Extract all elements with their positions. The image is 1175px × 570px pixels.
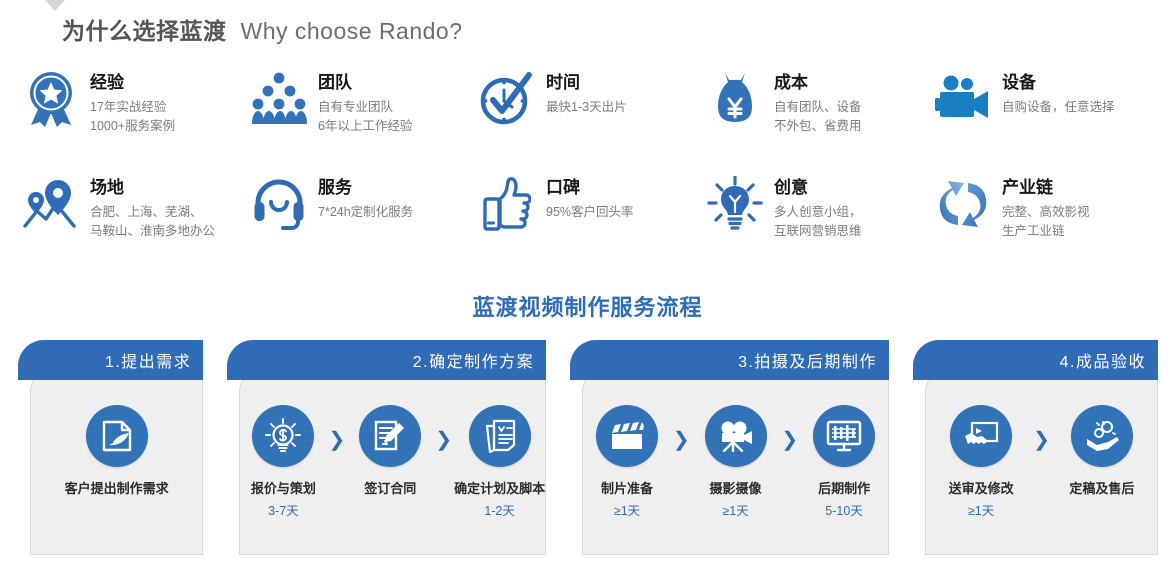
process-card-4-header: 4.成品验收 [913, 340, 1158, 380]
chevron-right-icon: ❯ [671, 427, 692, 452]
process-card-2-steps: 报价与策划 3-7天 ❯ 签订合同 [240, 405, 545, 546]
feature-text: 设备 自购设备，任意选择 [1002, 68, 1115, 117]
feature-title: 创意 [774, 177, 862, 199]
process-step-label: 签订合同 [364, 478, 416, 497]
process-card-1[interactable]: 1.提出需求 客户提出制作需求 [18, 340, 203, 555]
page-title-cn: 为什么选择蓝渡 [62, 18, 227, 44]
feature-desc: 自购设备，任意选择 [1002, 98, 1115, 117]
process-step-label: 送审及修改 [949, 478, 1014, 497]
process-step[interactable]: 制片准备 ≥1天 [583, 405, 671, 519]
feature-title: 成本 [774, 72, 862, 94]
feature-desc: 多人创意小组， 互联网营销思维 [774, 203, 862, 242]
process-step-days: ≥1天 [968, 500, 994, 519]
feature-desc: 完整、高效影视 生产工业链 [1002, 203, 1090, 242]
feature-item-team: 团队 自有专业团队 6年以上工作经验 [250, 68, 478, 173]
movie-camera-icon [705, 405, 767, 467]
chevron-right-icon: ❯ [779, 427, 800, 452]
feature-desc: 自有团队、设备 不外包、省费用 [774, 98, 862, 137]
chevron-right-icon: ❯ [1031, 427, 1052, 452]
feature-text: 经验 17年实战经验 1000+服务案例 [90, 68, 175, 137]
map-location-pin-icon [22, 175, 80, 233]
process-card-2-header: 2.确定制作方案 [227, 340, 546, 380]
feature-title: 时间 [546, 72, 627, 94]
feature-desc: 最快1-3天出片 [546, 98, 627, 117]
process-card-3[interactable]: 3.拍摄及后期制作 制片准备 [570, 340, 889, 555]
process-card-4[interactable]: 4.成品验收 送审及修改 ≥1天 ❯ [913, 340, 1158, 555]
process-card-1-header: 1.提出需求 [18, 340, 203, 380]
feature-item-venue: 场地 合肥、上海、芜湖、 马鞍山、淮南多地办公 [22, 173, 250, 278]
feature-text: 口碑 95%客户回头率 [546, 173, 634, 222]
contract-sign-icon [359, 405, 421, 467]
chevron-right-icon: ❯ [326, 427, 347, 452]
process-step[interactable]: 定稿及售后 [1052, 405, 1152, 500]
process-card-3-body: 制片准备 ≥1天 ❯ [582, 370, 889, 555]
process-card-1-steps: 客户提出制作需求 [31, 405, 202, 546]
chevron-right-icon: ❯ [433, 427, 454, 452]
feature-item-service: 服务 7*24h定制化服务 [250, 173, 478, 278]
handshake-screen-icon [950, 405, 1012, 467]
feature-desc: 自有专业团队 6年以上工作经验 [318, 98, 412, 137]
document-pen-icon [86, 405, 148, 467]
lightbulb-idea-icon [706, 175, 764, 233]
feature-item-equipment: 设备 自购设备，任意选择 [934, 68, 1162, 173]
feature-desc: 7*24h定制化服务 [318, 203, 413, 222]
feature-title: 设备 [1002, 72, 1115, 94]
thumbs-up-icon [478, 175, 536, 233]
process-card-4-steps: 送审及修改 ≥1天 ❯ 定稿及售后 [926, 405, 1157, 546]
feature-text: 成本 自有团队、设备 不外包、省费用 [774, 68, 862, 137]
award-ribbon-icon [22, 70, 80, 128]
feature-desc: 合肥、上海、芜湖、 马鞍山、淮南多地办公 [90, 203, 215, 242]
process-step[interactable]: 摄影摄像 ≥1天 [692, 405, 780, 519]
process-step-label: 定稿及售后 [1069, 478, 1134, 497]
process-step-label: 客户提出制作需求 [65, 478, 169, 497]
page-title-en: Why choose Rando? [241, 18, 463, 44]
process-card-1-body: 客户提出制作需求 [30, 370, 203, 555]
feature-desc: 17年实战经验 1000+服务案例 [90, 98, 175, 137]
feature-title: 口碑 [546, 177, 634, 199]
team-people-icon [250, 70, 308, 128]
process-step-label: 摄影摄像 [710, 478, 762, 497]
process-step[interactable]: 客户提出制作需求 [42, 405, 192, 500]
feature-title: 团队 [318, 72, 412, 94]
process-step[interactable]: 确定计划及脚本 1-2天 [454, 405, 545, 519]
money-bag-yen-icon [706, 70, 764, 128]
feature-item-industry-chain: 产业链 完整、高效影视 生产工业链 [934, 173, 1162, 278]
headset-support-icon [250, 175, 308, 233]
features-grid: 经验 17年实战经验 1000+服务案例 [22, 68, 1162, 278]
feature-item-time: 时间 最快1-3天出片 [478, 68, 706, 173]
process-step[interactable]: 送审及修改 ≥1天 [931, 405, 1031, 519]
feature-text: 场地 合肥、上海、芜湖、 马鞍山、淮南多地办公 [90, 173, 215, 242]
notch-triangle-icon [45, 0, 65, 11]
feature-item-reputation: 口碑 95%客户回头率 [478, 173, 706, 278]
monitor-editing-icon [813, 405, 875, 467]
feature-title: 服务 [318, 177, 413, 199]
lightbulb-dollar-icon [252, 405, 314, 467]
process-card-2-body: 报价与策划 3-7天 ❯ 签订合同 [239, 370, 546, 555]
feature-text: 产业链 完整、高效影视 生产工业链 [1002, 173, 1090, 242]
process-step-days: ≥1天 [614, 500, 640, 519]
feature-title: 经验 [90, 72, 175, 94]
process-step[interactable]: 签订合同 [347, 405, 433, 500]
feature-item-cost: 成本 自有团队、设备 不外包、省费用 [706, 68, 934, 173]
clapperboard-icon [596, 405, 658, 467]
feature-text: 时间 最快1-3天出片 [546, 68, 627, 117]
process-cards: 1.提出需求 客户提出制作需求 [18, 340, 1158, 555]
process-step[interactable]: 报价与策划 3-7天 [240, 405, 326, 519]
process-card-4-body: 送审及修改 ≥1天 ❯ 定稿及售后 [925, 370, 1158, 555]
process-step-label: 后期制作 [818, 478, 870, 497]
recycle-arrows-icon [934, 175, 992, 233]
feature-text: 服务 7*24h定制化服务 [318, 173, 413, 222]
process-step-label: 确定计划及脚本 [454, 478, 545, 497]
page-title: 为什么选择蓝渡Why choose Rando? [62, 12, 463, 46]
process-card-2[interactable]: 2.确定制作方案 [227, 340, 546, 555]
page-header: 为什么选择蓝渡Why choose Rando? [0, 0, 1175, 58]
feature-text: 团队 自有专业团队 6年以上工作经验 [318, 68, 412, 137]
process-step-days: 5-10天 [825, 500, 863, 519]
hand-coins-icon [1071, 405, 1133, 467]
feature-item-creativity: 创意 多人创意小组， 互联网营销思维 [706, 173, 934, 278]
process-card-3-header: 3.拍摄及后期制作 [570, 340, 889, 380]
page-root: 为什么选择蓝渡Why choose Rando? 经验 17年实战经验 1000… [0, 0, 1175, 570]
process-step-label: 制片准备 [601, 478, 653, 497]
feature-title: 场地 [90, 177, 215, 199]
feature-text: 创意 多人创意小组， 互联网营销思维 [774, 173, 862, 242]
script-documents-icon [469, 405, 531, 467]
process-step-days: 1-2天 [484, 500, 515, 519]
feature-desc: 95%客户回头率 [546, 203, 634, 222]
process-section-title: 蓝渡视频制作服务流程 [0, 290, 1175, 322]
process-card-3-steps: 制片准备 ≥1天 ❯ [583, 405, 888, 546]
process-step[interactable]: 后期制作 5-10天 [800, 405, 888, 519]
feature-title: 产业链 [1002, 177, 1090, 199]
process-step-days: ≥1天 [722, 500, 748, 519]
process-step-label: 报价与策划 [251, 478, 316, 497]
clock-check-icon [478, 70, 536, 128]
feature-item-experience: 经验 17年实战经验 1000+服务案例 [22, 68, 250, 173]
video-camera-icon [934, 70, 992, 128]
process-step-days: 3-7天 [268, 500, 299, 519]
